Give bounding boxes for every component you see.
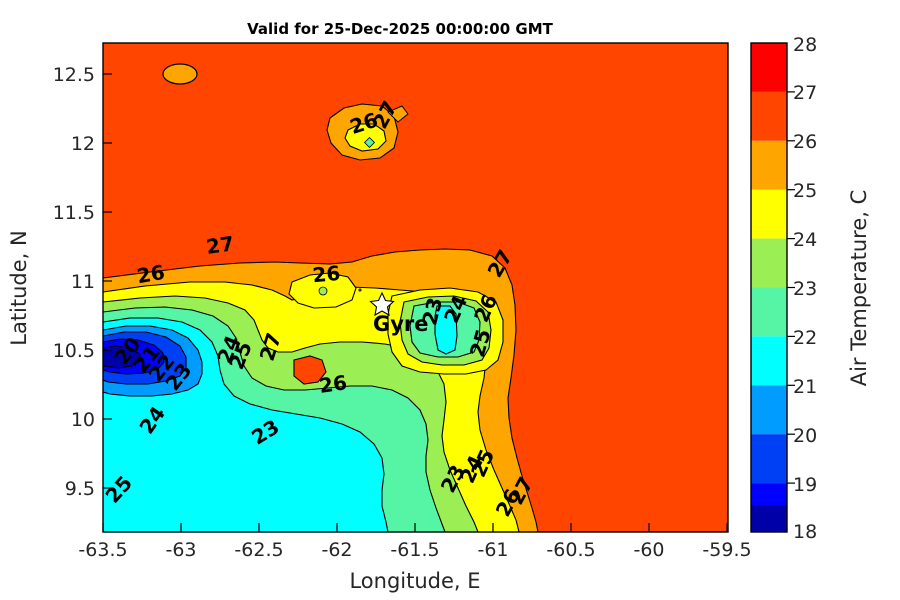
y-tick-label: 11.5 [53,202,95,224]
contour-label: 27 [205,231,236,259]
colorbar-tick-label: 26 [793,131,817,153]
contour-label: 26 [318,370,349,398]
x-tick-label: -60.5 [546,539,595,561]
colorbar-band [751,385,787,434]
colorbar-tick-label: 18 [793,521,817,543]
colorbar-tick-label: 21 [793,376,817,398]
contour-label: 26 [311,261,341,287]
colorbar-band [751,288,787,337]
y-tick-label: 12.5 [53,64,95,86]
plot-area: Gyre 27 26 26 27 20 21 22 23 24 25 27 26… [101,43,728,532]
colorbar-tick-label: 25 [793,180,817,202]
station-dot [358,288,361,291]
island-center-marker [319,287,327,295]
colorbar-label: Air Temperature, C [847,190,871,387]
x-tick-label: -60 [633,539,664,561]
colorbar-tick-label: 23 [793,278,817,300]
y-tick-label: 9.5 [65,478,95,500]
colorbar-band [751,336,787,385]
x-tick-label: -59.5 [702,539,751,561]
small-island-ellipse [163,64,197,84]
colorbar-tick-label: 24 [793,229,817,251]
colorbar-tick-label: 19 [793,474,817,496]
colorbar-band [751,505,787,532]
x-tick-label: -63.5 [78,539,127,561]
y-tick-label: 10 [71,409,95,431]
contour-label: 26 [135,260,167,288]
y-tick-label: 12 [71,133,95,155]
colorbar-tick-label: 28 [793,34,817,56]
colorbar-band [751,141,787,190]
colorbar-tick-label: 22 [793,327,817,349]
colorbar-band [751,434,787,483]
colorbar-band [751,43,787,92]
colorbar-tick-label: 20 [793,425,817,447]
colorbar-band [751,239,787,288]
x-tick-label: -61 [477,539,508,561]
y-tick-label: 11 [71,271,95,293]
colorbar-band [751,190,787,239]
colorbar-tick-label: 27 [793,82,817,104]
colorbar-band [751,92,787,141]
x-tick-label: -62.5 [234,539,283,561]
small-island-northwest [163,64,197,84]
temperature-contour-figure: Gyre 27 26 26 27 20 21 22 23 24 25 27 26… [0,0,900,600]
x-tick-label: -63 [165,539,196,561]
x-tick-label: -61.5 [390,539,439,561]
y-axis-label: Latitude, N [7,230,31,346]
chart-title: Valid for 25-Dec-2025 00:00:00 GMT [247,20,553,38]
y-tick-label: 10.5 [53,340,95,362]
x-tick-label: -62 [321,539,352,561]
x-axis-label: Longitude, E [349,569,480,593]
